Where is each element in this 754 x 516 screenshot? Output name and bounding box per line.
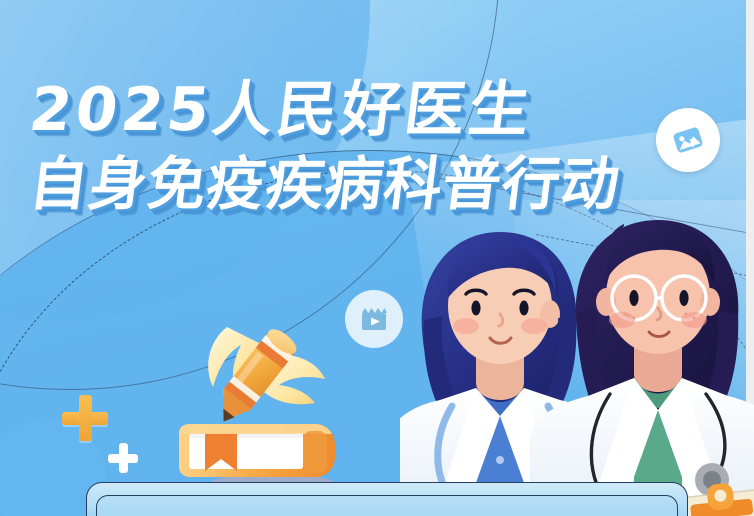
plus-mark-white bbox=[108, 443, 138, 473]
doctors-illustration bbox=[400, 210, 754, 516]
headline-line-1: 2025人民好医生 bbox=[26, 74, 725, 146]
poster-banner: 2025人民好医生 自身免疫疾病科普行动 bbox=[0, 0, 754, 516]
image-photo-icon[interactable] bbox=[656, 108, 720, 172]
winged-pencil-and-book-illustration bbox=[165, 305, 355, 495]
headline-block: 2025人民好医生 自身免疫疾病科普行动 bbox=[30, 74, 720, 220]
plus-mark-orange bbox=[62, 395, 108, 441]
desk-front-lip bbox=[96, 495, 678, 516]
headline-line-2: 自身免疫疾病科普行动 bbox=[26, 148, 725, 220]
